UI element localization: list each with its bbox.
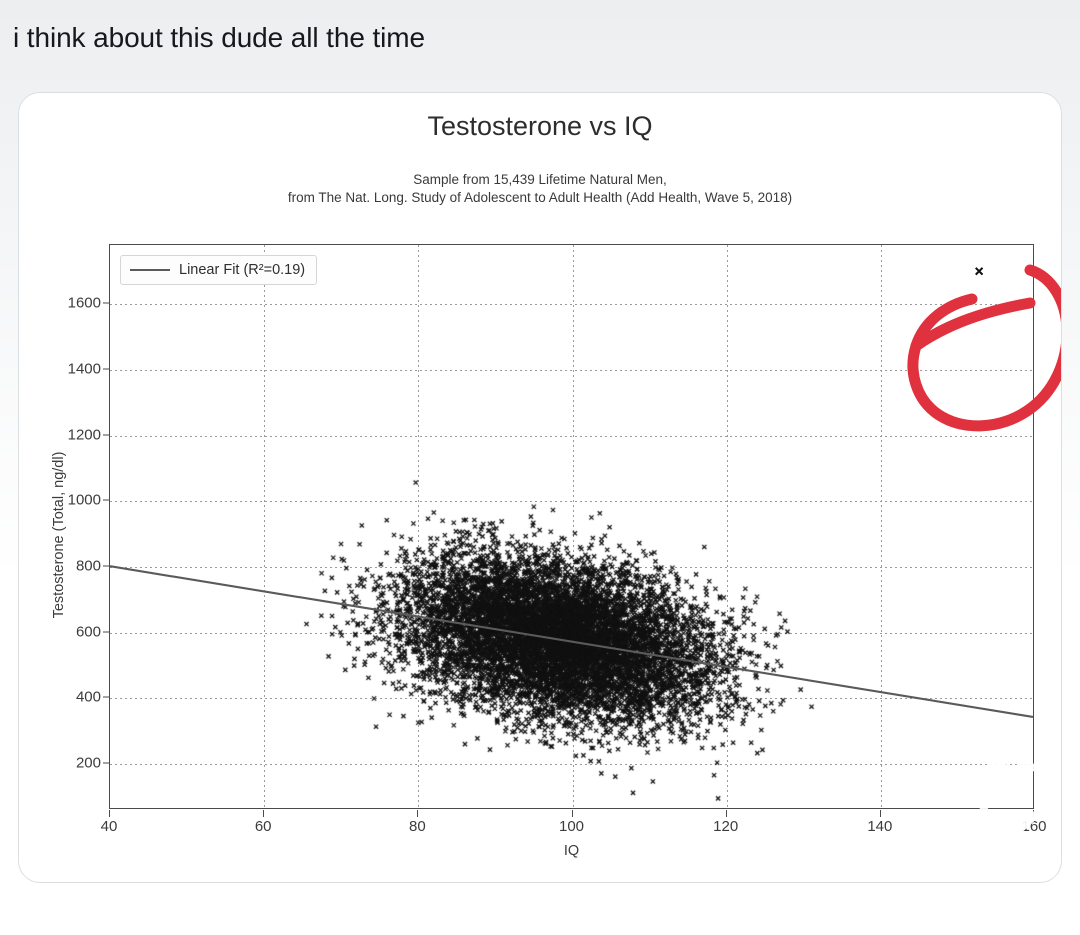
x-tick-label: 100 <box>559 818 584 835</box>
y-axis-tick-marks <box>103 244 110 809</box>
chart-subtitle-line-1: Sample from 15,439 Lifetime Natural Men, <box>19 171 1061 189</box>
y-tick-label: 600 <box>76 623 101 640</box>
x-tick-label: 60 <box>255 818 272 835</box>
legend-label: Linear Fit (R²=0.19) <box>179 262 305 278</box>
y-tick-mark <box>103 697 110 698</box>
y-tick-mark <box>103 763 110 764</box>
y-tick-mark <box>103 368 110 369</box>
x-tick-mark <box>417 810 418 817</box>
x-tick-mark <box>1033 810 1034 817</box>
x-tick-label: 40 <box>101 818 118 835</box>
chart-figure: Testosterone vs IQ Sample from 15,439 Li… <box>19 93 1061 882</box>
y-tick-label: 1600 <box>68 295 101 312</box>
y-tick-label: 400 <box>76 689 101 706</box>
outlier-point <box>110 245 1033 809</box>
x-tick-label: 80 <box>409 818 426 835</box>
y-tick-mark <box>103 565 110 566</box>
post-caption: i think about this dude all the time <box>13 22 425 54</box>
x-tick-mark <box>880 810 881 817</box>
y-tick-mark <box>103 303 110 304</box>
y-tick-mark <box>103 500 110 501</box>
x-tick-mark <box>726 810 727 817</box>
plot-area: Linear Fit (R²=0.19) <box>109 244 1034 809</box>
y-tick-mark <box>103 434 110 435</box>
y-axis-label: Testosterone (Total, ng/dl) <box>51 345 67 725</box>
x-axis-label: IQ <box>109 843 1034 859</box>
post-media-card[interactable]: Testosterone vs IQ Sample from 15,439 Li… <box>18 92 1062 883</box>
chart-subtitle-line-2: from The Nat. Long. Study of Adolescent … <box>19 189 1061 207</box>
chart-subtitle: Sample from 15,439 Lifetime Natural Men,… <box>19 171 1061 207</box>
x-tick-mark <box>109 810 110 817</box>
y-tick-label: 1200 <box>68 426 101 443</box>
legend-line-swatch <box>130 269 170 271</box>
x-tick-label: 120 <box>713 818 738 835</box>
y-tick-mark <box>103 631 110 632</box>
y-tick-label: 1400 <box>68 360 101 377</box>
x-tick-label: 140 <box>867 818 892 835</box>
chart-legend: Linear Fit (R²=0.19) <box>120 255 317 285</box>
x-tick-mark <box>263 810 264 817</box>
x-tick-label: 160 <box>1021 818 1046 835</box>
chart-title: Testosterone vs IQ <box>19 111 1061 142</box>
y-tick-label: 200 <box>76 755 101 772</box>
y-tick-label: 800 <box>76 557 101 574</box>
x-tick-mark <box>572 810 573 817</box>
y-tick-label: 1000 <box>68 492 101 509</box>
